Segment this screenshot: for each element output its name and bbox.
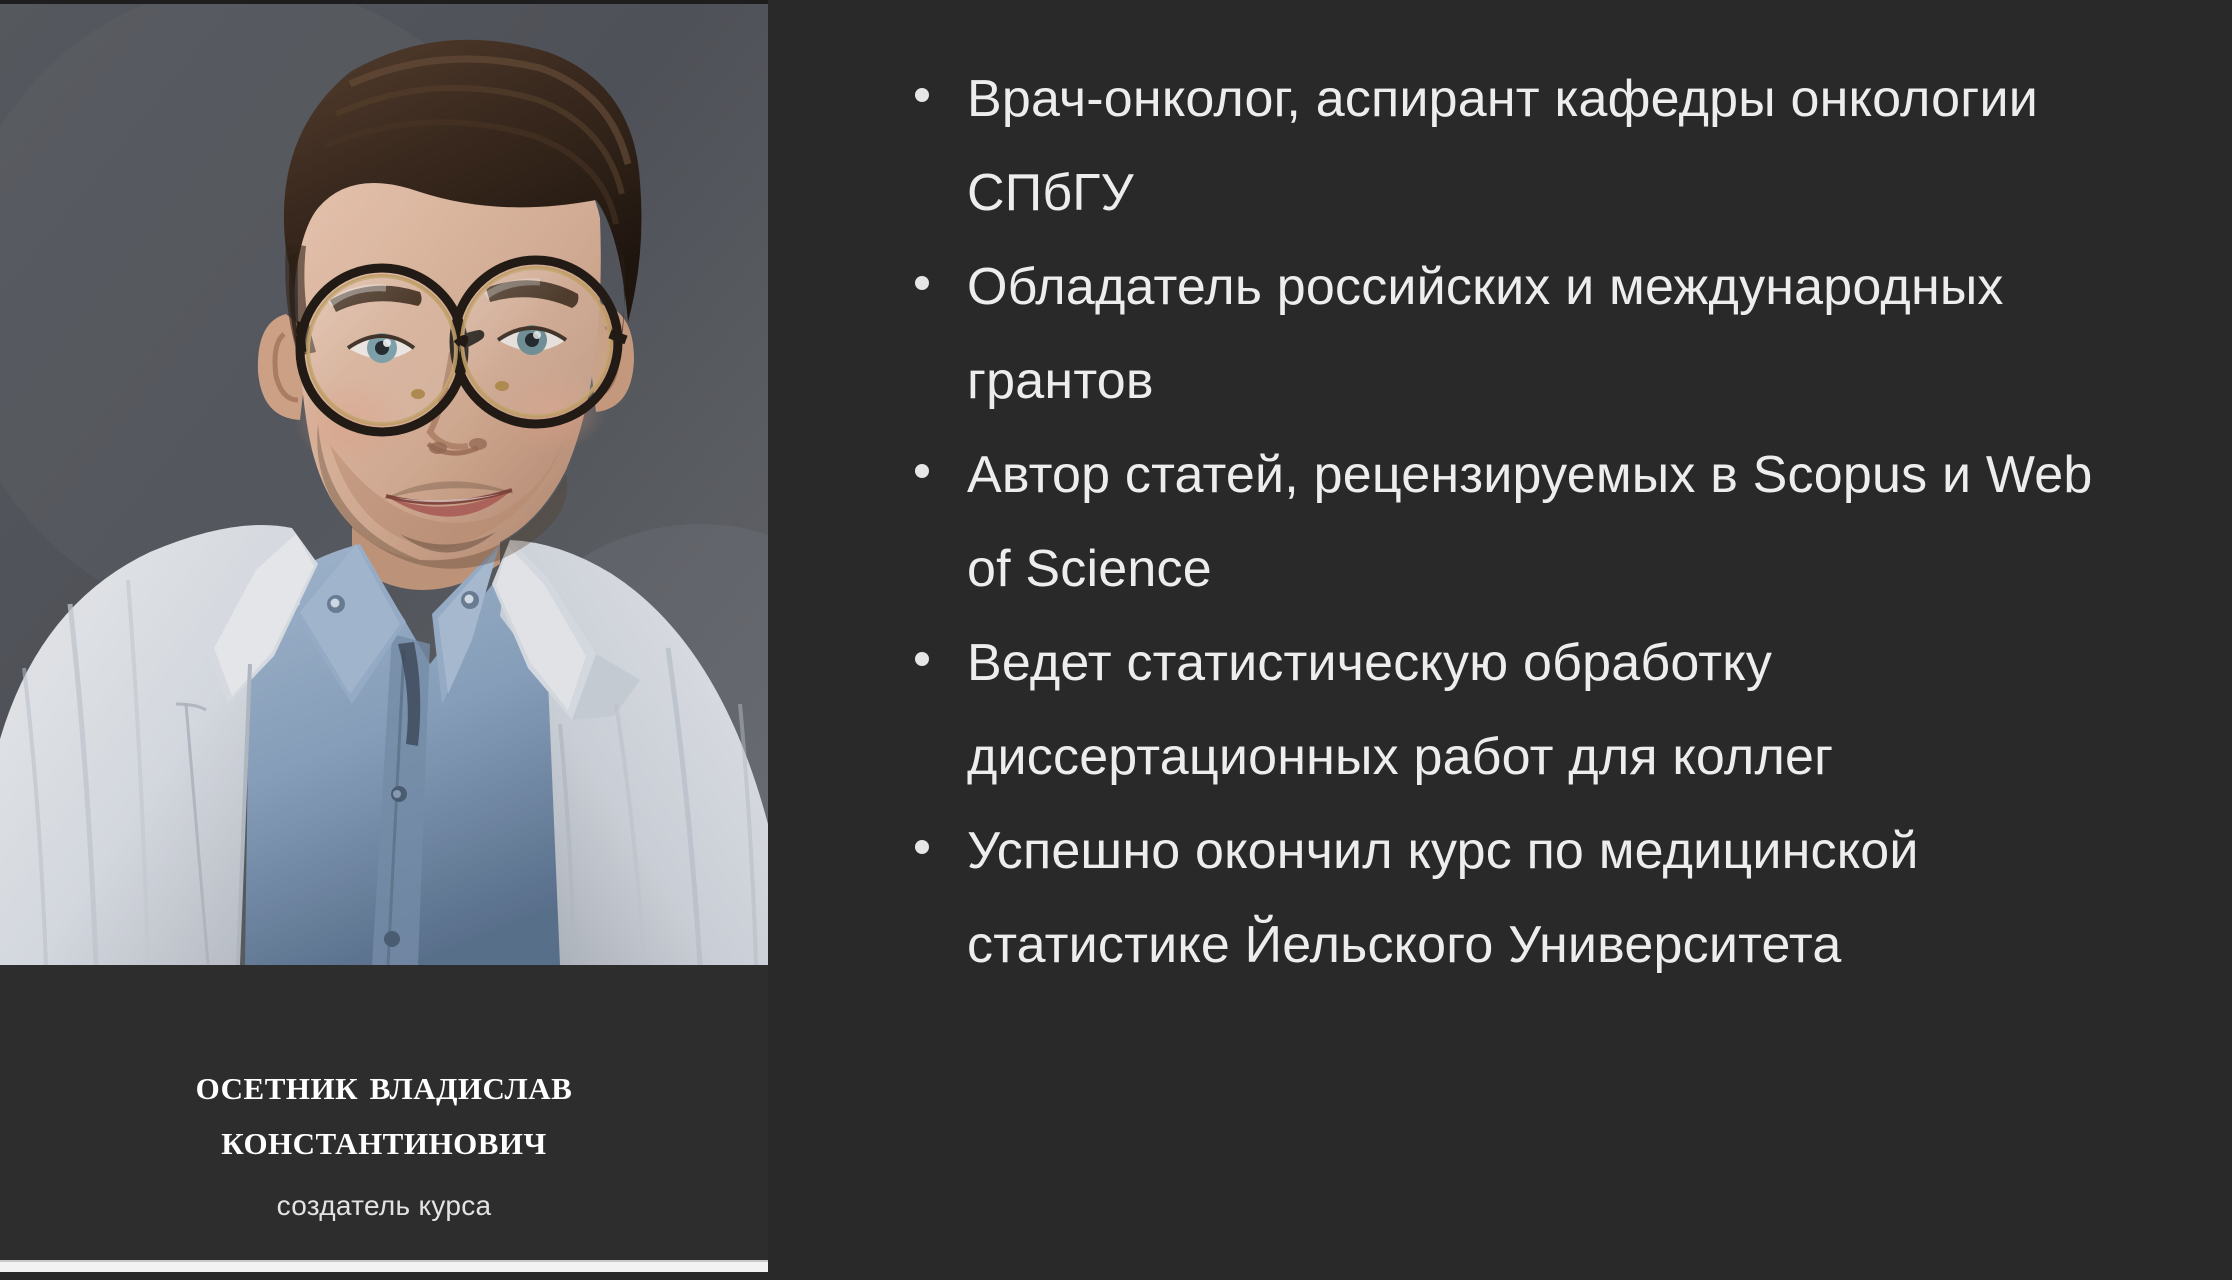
list-item: Автор статей, рецензируемых в Scopus и W…: [915, 428, 2195, 616]
portrait-photo: [0, 4, 768, 965]
speaker-caption: Осетник Владислав Константинович создате…: [0, 965, 768, 1272]
bullet-dot-icon: [915, 276, 929, 290]
speaker-name: Осетник Владислав Константинович: [54, 1057, 714, 1168]
portrait-illustration: [0, 4, 768, 965]
speaker-name-line-1: Осетник Владислав: [54, 1057, 714, 1112]
list-item-label: Ведет статистическую обработку диссертац…: [967, 616, 2147, 804]
speaker-name-line-2: Константинович: [54, 1112, 714, 1167]
list-item-label: Автор статей, рецензируемых в Scopus и W…: [967, 428, 2147, 616]
bullet-dot-icon: [915, 88, 929, 102]
list-item-label: Обладатель российских и международных гр…: [967, 240, 2147, 428]
list-item-label: Успешно окончил курс по медицинской стат…: [967, 804, 2147, 992]
list-item: Врач-онколог, аспирант кафедры онкологии…: [915, 52, 2195, 240]
list-item: Ведет статистическую обработку диссертац…: [915, 616, 2195, 804]
credentials-list: Врач-онколог, аспирант кафедры онкологии…: [915, 52, 2195, 992]
bullet-dot-icon: [915, 652, 929, 666]
bullet-dot-icon: [915, 464, 929, 478]
list-item: Успешно окончил курс по медицинской стат…: [915, 804, 2195, 992]
bullet-dot-icon: [915, 840, 929, 854]
slide-root: Осетник Владислав Константинович создате…: [0, 0, 2232, 1280]
bottom-accent-bar: [0, 1260, 768, 1272]
list-item: Обладатель российских и международных гр…: [915, 240, 2195, 428]
list-item-label: Врач-онколог, аспирант кафедры онкологии…: [967, 52, 2147, 240]
speaker-role: создатель курса: [277, 1190, 492, 1222]
